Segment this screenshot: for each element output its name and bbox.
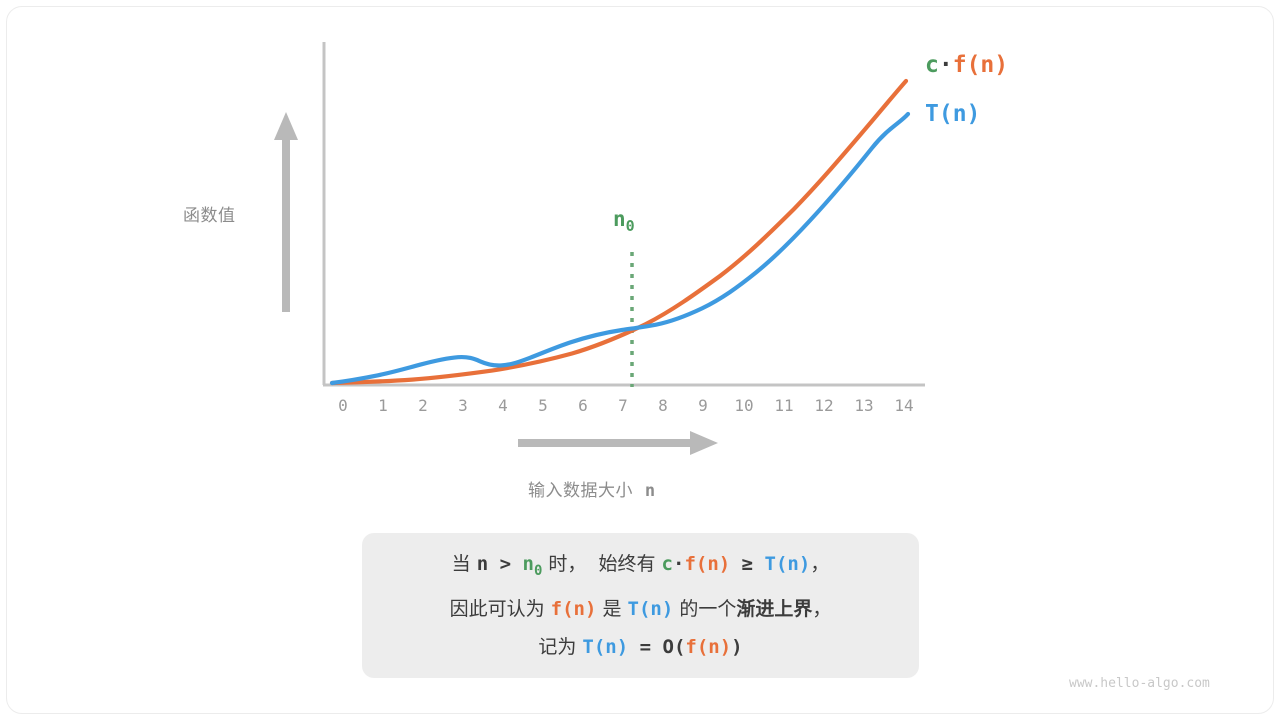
cap1-comma: ， [810, 553, 829, 575]
n0-base: n [613, 207, 626, 231]
y-axis-arrow [274, 112, 298, 312]
cap1-tn: T(n) [765, 553, 811, 575]
x-tick-1: 1 [378, 396, 388, 415]
cap1-n: n [477, 553, 488, 575]
cap2-fn: f(n) [551, 598, 597, 620]
x-axis-label: 输入数据大小 n [528, 476, 656, 501]
x-tick-14: 14 [894, 396, 913, 415]
curve-label-func-f: f(n) [953, 52, 1008, 78]
curve-t-n [332, 114, 908, 383]
cap2-shi: 是 [596, 598, 627, 620]
curve-label-t-n: T(n) [925, 101, 980, 127]
cap1-gt: > [488, 553, 522, 575]
cap1-dot: · [673, 553, 684, 575]
cap1-ge: ≥ [730, 553, 764, 575]
cap3-prefix: 记为 [538, 636, 582, 658]
curve-label-c-f-n: c·f(n) [925, 52, 1008, 78]
x-tick-7: 7 [618, 396, 628, 415]
x-tick-12: 12 [814, 396, 833, 415]
cap3-tn: T(n) [582, 636, 628, 658]
n0-marker-label: n0 [613, 207, 635, 235]
cap1-fn: f(n) [684, 553, 730, 575]
cap3-open: O( [663, 636, 686, 658]
x-axis-label-text: 输入数据大小 [528, 481, 633, 501]
cap2-prefix: 因此可认为 [450, 598, 551, 620]
caption-line-3: 记为 T(n) = O(f(n)) [538, 628, 742, 666]
caption-line-2: 因此可认为 f(n) 是 T(n) 的一个渐进上界， [450, 590, 832, 628]
cap1-c: c [662, 553, 673, 575]
x-tick-4: 4 [498, 396, 508, 415]
cap1-n0: n0 [522, 553, 542, 575]
x-tick-9: 9 [698, 396, 708, 415]
cap2-tn: T(n) [628, 598, 674, 620]
cap3-fn: f(n) [685, 636, 731, 658]
figure-root: 函数值 输入数据大小 n 0 1 2 3 4 5 6 7 8 9 10 11 1… [0, 0, 1280, 720]
caption-line-1: 当 n > n0 时， 始终有 c·f(n) ≥ T(n)， [452, 545, 830, 590]
cap3-close: ) [731, 636, 742, 658]
x-axis-label-symbol: n [645, 481, 656, 501]
x-tick-8: 8 [658, 396, 668, 415]
caption-box: 当 n > n0 时， 始终有 c·f(n) ≥ T(n)， 因此可认为 f(n… [362, 533, 919, 678]
watermark: www.hello-algo.com [1069, 676, 1210, 691]
x-tick-0: 0 [338, 396, 348, 415]
n0-subscript: 0 [626, 217, 635, 235]
x-tick-6: 6 [578, 396, 588, 415]
x-tick-11: 11 [774, 396, 793, 415]
cap1-seg-dang: 当 [452, 553, 477, 575]
cap2-comma: ， [812, 598, 831, 620]
x-tick-10: 10 [734, 396, 753, 415]
curve-label-dot: · [939, 52, 953, 78]
x-tick-5: 5 [538, 396, 548, 415]
cap2-bold-term: 渐进上界 [736, 598, 812, 620]
y-axis-label: 函数值 [183, 201, 236, 226]
x-tick-2: 2 [418, 396, 428, 415]
x-tick-3: 3 [458, 396, 468, 415]
curve-label-coefficient: c [925, 52, 939, 78]
x-tick-13: 13 [854, 396, 873, 415]
cap3-eq: = [628, 636, 662, 658]
cap2-mid: 的一个 [673, 598, 736, 620]
cap1-shi: 时， 始终有 [542, 553, 661, 575]
x-axis-arrow [518, 431, 718, 455]
